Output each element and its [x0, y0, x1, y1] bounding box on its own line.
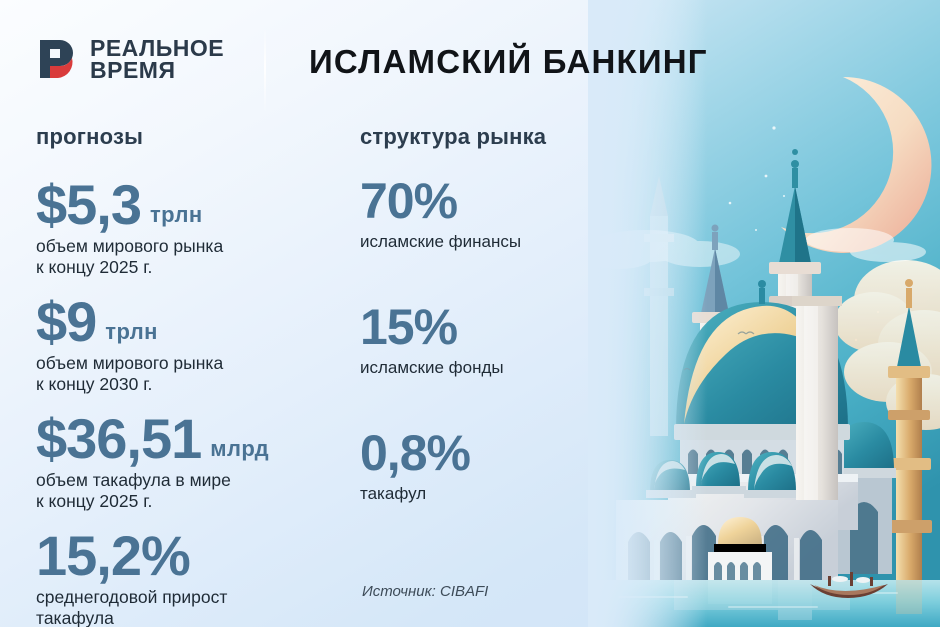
stat-value: $5,3 трлн	[36, 176, 336, 233]
logo-wordmark: РЕАЛЬНОЕ ВРЕМЯ	[90, 37, 224, 81]
stat-caption: объем мирового рынка к концу 2030 г.	[36, 353, 336, 394]
stat-number: $5,3	[36, 176, 141, 233]
stat-value: $36,51 млрд	[36, 410, 336, 467]
source-label: Источник: CIBAFI	[362, 583, 488, 600]
stat-number: $36,51	[36, 410, 201, 467]
stat-item: 15% исламские фонды	[360, 302, 600, 378]
stat-value: 0,8%	[360, 428, 600, 479]
stat-number: 70%	[360, 176, 457, 227]
infographic-canvas: РЕАЛЬНОЕ ВРЕМЯ ИСЛАМСКИЙ БАНКИНГ прогноз…	[0, 0, 940, 627]
logo-line-2: ВРЕМЯ	[90, 59, 224, 81]
stat-value: 15,2%	[36, 527, 336, 584]
stat-caption: среднегодовой прирост такафула	[36, 587, 336, 627]
stat-number: 15,2%	[36, 527, 190, 584]
logo-line-1: РЕАЛЬНОЕ	[90, 37, 224, 59]
stat-item: $9 трлн объем мирового рынка к концу 203…	[36, 293, 336, 394]
market-structure-column: структура рынка 70% исламские финансы 15…	[360, 124, 600, 554]
stat-item: 15,2% среднегодовой прирост такафула	[36, 527, 336, 627]
stat-value: 70%	[360, 176, 600, 227]
stat-number: 0,8%	[360, 428, 470, 479]
stat-caption: объем мирового рынка к концу 2025 г.	[36, 236, 336, 277]
stat-item: $36,51 млрд объем такафула в мире к конц…	[36, 410, 336, 511]
stat-number: $9	[36, 293, 96, 350]
header-divider	[264, 28, 266, 114]
realnoe-vremya-logo[interactable]: РЕАЛЬНОЕ ВРЕМЯ	[36, 36, 224, 82]
logo-mark-icon	[36, 36, 80, 82]
stat-caption: объем такафула в мире к концу 2025 г.	[36, 470, 336, 511]
stat-unit: трлн	[150, 204, 203, 226]
stat-value: 15%	[360, 302, 600, 353]
stat-number: 15%	[360, 302, 457, 353]
forecasts-heading: прогнозы	[36, 124, 336, 150]
forecasts-column: прогнозы $5,3 трлн объем мирового рынка …	[36, 124, 336, 627]
stat-unit: трлн	[105, 321, 158, 343]
stat-item: 70% исламские финансы	[360, 176, 600, 252]
stat-value: $9 трлн	[36, 293, 336, 350]
stat-unit: млрд	[210, 438, 269, 460]
mosque-crescent-moon-illustration	[588, 0, 940, 627]
stat-caption: исламские фонды	[360, 358, 600, 378]
stat-item: 0,8% такафул	[360, 428, 600, 504]
stat-caption: такафул	[360, 484, 600, 504]
page-title: ИСЛАМСКИЙ БАНКИНГ	[309, 43, 708, 81]
market-structure-heading: структура рынка	[360, 124, 600, 150]
stat-item: $5,3 трлн объем мирового рынка к концу 2…	[36, 176, 336, 277]
stat-caption: исламские финансы	[360, 232, 600, 252]
